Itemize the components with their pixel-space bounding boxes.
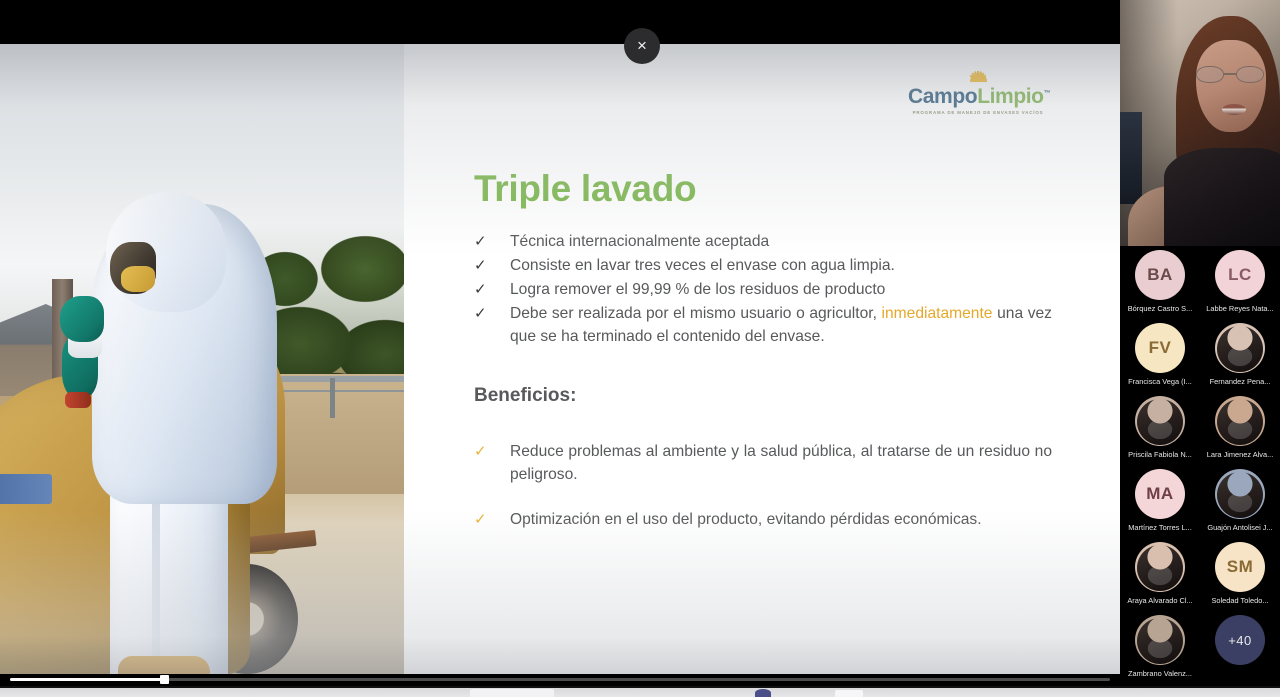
participant-avatar-photo <box>1215 323 1265 373</box>
participant-avatar-photo <box>1215 469 1265 519</box>
logo-subtitle: PROGRAMA DE MANEJO DE ENVASES VACÍOS <box>908 110 1048 115</box>
check-icon: ✓ <box>474 302 510 325</box>
participant-name: Priscila Fabiola N... <box>1128 450 1192 459</box>
highlighted-word: inmediatamente <box>882 305 993 322</box>
progress-handle[interactable] <box>160 675 169 684</box>
participant-avatar-photo <box>1215 396 1265 446</box>
participant-overflow-count: +40 <box>1215 615 1265 665</box>
taskbar-item[interactable] <box>470 689 554 697</box>
speaker-glasses <box>1196 66 1268 83</box>
participant-row: MAMartínez Torres L...Guajón Antolisei J… <box>1120 469 1280 542</box>
photo-tank-label <box>0 474 52 504</box>
speaker-face <box>1196 40 1266 132</box>
taskbar-item[interactable] <box>755 689 771 697</box>
photo-worker-respirator <box>121 266 155 292</box>
participant-avatar-initials: FV <box>1135 323 1185 373</box>
close-icon[interactable]: × <box>624 28 660 64</box>
participant-name: Soledad Toledo... <box>1212 596 1269 605</box>
participant-name: Araya Alvarado Cl... <box>1127 596 1192 605</box>
check-icon: ✓ <box>474 278 510 301</box>
participant-row: FVFrancisca Vega (I...Fernandez Pena... <box>1120 323 1280 396</box>
benefits-heading: Beneficios: <box>474 385 576 407</box>
photo-red-object <box>65 392 91 408</box>
participant-name: Labbe Reyes Nata... <box>1206 304 1273 313</box>
participant-name: Guajón Antolisei J... <box>1207 523 1272 532</box>
logo-word-limpio: Limpio <box>977 85 1043 108</box>
check-icon: ✓ <box>474 440 510 463</box>
participant-avatar-initials: SM <box>1215 542 1265 592</box>
photo-worker-glove <box>60 296 104 342</box>
presentation-slide: CampoLimpio™ PROGRAMA DE MANEJO DE ENVAS… <box>0 44 1120 674</box>
shared-screen-stage: × <box>0 0 1120 697</box>
participant-name: Zambrano Valenz... <box>1128 669 1192 678</box>
speaker-clothing <box>1164 148 1280 246</box>
participant-row: Priscila Fabiola N...Lara Jimenez Alva..… <box>1120 396 1280 469</box>
list-item-label: Técnica internacionalmente aceptada <box>510 230 1052 253</box>
speaker-monitor <box>1120 112 1142 204</box>
check-icon: ✓ <box>474 254 510 277</box>
avatar-face <box>1217 326 1263 372</box>
participant-tile[interactable]: Araya Alvarado Cl... <box>1120 542 1200 615</box>
sun-icon <box>952 66 1004 82</box>
participant-tile[interactable]: MAMartínez Torres L... <box>1120 469 1200 542</box>
participant-name: Bórquez Castro S... <box>1128 304 1193 313</box>
participant-name: Fernandez Pena... <box>1210 377 1271 386</box>
logo-word-campo: Campo <box>908 85 977 108</box>
avatar-face <box>1217 472 1263 518</box>
participant-avatar-photo <box>1135 615 1185 665</box>
participant-tile[interactable]: Lara Jimenez Alva... <box>1200 396 1280 469</box>
avatar-face <box>1137 545 1183 591</box>
list-item-label: Consiste en lavar tres veces el envase c… <box>510 254 1052 277</box>
list-item: ✓ Consiste en lavar tres veces el envase… <box>474 254 1052 277</box>
logo-wordmark: CampoLimpio™ <box>908 83 1048 107</box>
avatar-face <box>1137 399 1183 445</box>
participant-avatar-initials: MA <box>1135 469 1185 519</box>
speaker-mouth <box>1222 104 1246 115</box>
progress-fill <box>10 678 164 681</box>
participant-avatar-photo <box>1135 542 1185 592</box>
check-icon: ✓ <box>474 508 510 531</box>
list-item-label: Optimización en el uso del producto, evi… <box>510 508 1052 531</box>
photo-worker-boot <box>118 656 210 674</box>
participant-avatar-initials: BA <box>1135 250 1185 300</box>
active-speaker-video[interactable] <box>1120 0 1280 246</box>
participant-tile[interactable]: +40 <box>1200 615 1280 688</box>
list-item-label: Debe ser realizada por el mismo usuario … <box>510 302 1052 348</box>
participant-tile[interactable]: BABórquez Castro S... <box>1120 250 1200 323</box>
playback-progress-bar[interactable] <box>10 675 1110 685</box>
participant-avatar-initials: LC <box>1215 250 1265 300</box>
slide-content: CampoLimpio™ PROGRAMA DE MANEJO DE ENVAS… <box>404 44 1120 674</box>
bullet-list-main: ✓ Técnica internacionalmente aceptada ✓ … <box>474 230 1052 349</box>
participant-row: Zambrano Valenz...+40 <box>1120 615 1280 688</box>
campolimpio-logo: CampoLimpio™ PROGRAMA DE MANEJO DE ENVAS… <box>908 66 1048 118</box>
participant-tile[interactable]: SMSoledad Toledo... <box>1200 542 1280 615</box>
logo-trademark: ™ <box>1044 90 1051 97</box>
list-item: ✓ Logra remover el 99,99 % de los residu… <box>474 278 1052 301</box>
participant-tile[interactable]: Priscila Fabiola N... <box>1120 396 1200 469</box>
participant-tile[interactable]: Guajón Antolisei J... <box>1200 469 1280 542</box>
participant-avatar-photo <box>1135 396 1185 446</box>
participant-row: BABórquez Castro S...LCLabbe Reyes Nata.… <box>1120 250 1280 323</box>
photo-guardrail-post <box>330 378 335 418</box>
bullet-list-benefits: ✓ Reduce problemas al ambiente y la salu… <box>474 440 1052 553</box>
participant-name: Francisca Vega (I... <box>1128 377 1192 386</box>
os-taskbar[interactable] <box>0 686 1280 697</box>
participant-rail: BABórquez Castro S...LCLabbe Reyes Nata.… <box>1120 0 1280 697</box>
taskbar-item[interactable] <box>835 690 863 697</box>
avatar-face <box>1137 618 1183 664</box>
list-item-label: Logra remover el 99,99 % de los residuos… <box>510 278 1052 301</box>
list-item: ✓ Técnica internacionalmente aceptada <box>474 230 1052 253</box>
participant-name: Lara Jimenez Alva... <box>1207 450 1274 459</box>
page-title: Triple lavado <box>474 168 696 210</box>
meeting-window: × <box>0 0 1280 697</box>
participant-name: Martínez Torres L... <box>1128 523 1192 532</box>
slide-photo-worker-spraying <box>0 44 404 674</box>
list-item-highlighted: ✓ Debe ser realizada por el mismo usuari… <box>474 302 1052 348</box>
participant-tile[interactable]: Zambrano Valenz... <box>1120 615 1200 688</box>
participant-tile[interactable]: LCLabbe Reyes Nata... <box>1200 250 1280 323</box>
progress-track[interactable] <box>10 678 1110 681</box>
list-item-text-before: Debe ser realizada por el mismo usuario … <box>510 305 877 322</box>
list-item-label: Reduce problemas al ambiente y la salud … <box>510 440 1052 486</box>
participant-tile[interactable]: FVFrancisca Vega (I... <box>1120 323 1200 396</box>
list-item: ✓ Reduce problemas al ambiente y la salu… <box>474 440 1052 486</box>
check-icon: ✓ <box>474 230 510 253</box>
participant-tile[interactable]: Fernandez Pena... <box>1200 323 1280 396</box>
participant-grid: BABórquez Castro S...LCLabbe Reyes Nata.… <box>1120 246 1280 686</box>
participant-row: Araya Alvarado Cl...SMSoledad Toledo... <box>1120 542 1280 615</box>
avatar-face <box>1217 399 1263 445</box>
list-item: ✓ Optimización en el uso del producto, e… <box>474 508 1052 531</box>
